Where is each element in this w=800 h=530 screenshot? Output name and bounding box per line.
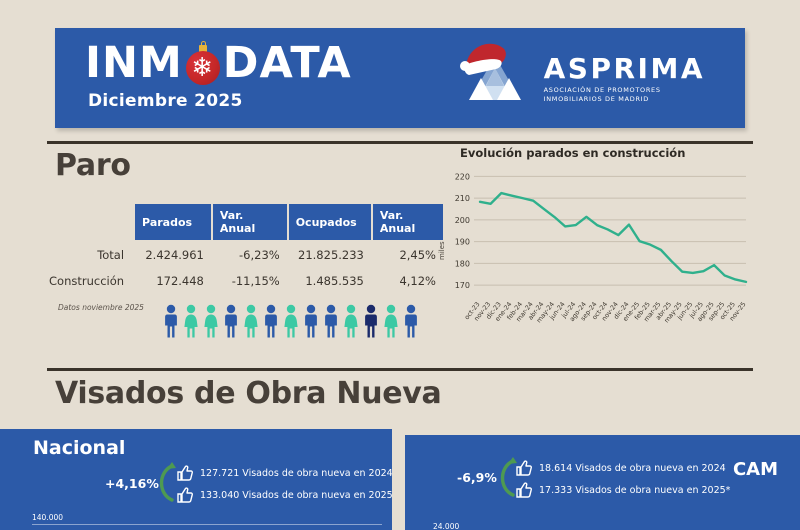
issue-date: Diciembre 2025 bbox=[88, 91, 352, 111]
paro-section-divider bbox=[47, 141, 753, 144]
inmodata-text-left: INM bbox=[85, 42, 183, 85]
christmas-ornament-icon: ❄ bbox=[184, 45, 222, 83]
table-header-var-anual-parados: Var. Anual bbox=[213, 204, 287, 240]
cell-construccion-var-ocupados: 4,12% bbox=[373, 270, 443, 292]
panel-nacional: Nacional +4,16% 127.721 Visados de obra … bbox=[0, 429, 392, 530]
infographic-page: INM ❄ DATA Diciembre 2025 bbox=[0, 0, 800, 530]
person-female-icon bbox=[283, 304, 299, 338]
cell-total-parados: 2.424.961 bbox=[135, 244, 211, 266]
axis-label-nacional: 140.000 bbox=[32, 513, 63, 522]
thumbs-up-icon bbox=[515, 482, 532, 498]
stat-row: 18.614 Visados de obra nueva en 2024 bbox=[515, 460, 730, 476]
person-male-icon bbox=[303, 304, 319, 338]
stat-text: 133.040 Visados de obra nueva en 2025* bbox=[200, 490, 392, 501]
people-pictogram-row bbox=[163, 304, 419, 338]
panel-label-cam: CAM bbox=[733, 459, 778, 480]
table-row: Construcción 172.448 -11,15% 1.485.535 4… bbox=[42, 270, 443, 292]
person-female-icon bbox=[203, 304, 219, 338]
pct-nacional: +4,16% bbox=[105, 476, 159, 491]
person-female-icon bbox=[343, 304, 359, 338]
paro-table: Parados Var. Anual Ocupados Var. Anual T… bbox=[40, 200, 445, 296]
table-header-row: Parados Var. Anual Ocupados Var. Anual bbox=[42, 204, 443, 240]
parados-construccion-chart: Evolución parados en construcción miles … bbox=[436, 146, 756, 351]
person-female-icon bbox=[243, 304, 259, 338]
table-header-blank bbox=[42, 204, 133, 240]
stat-text: 18.614 Visados de obra nueva en 2024 bbox=[539, 463, 726, 474]
asprima-subtitle-line1: ASOCIACIÓN DE PROMOTORES bbox=[544, 86, 705, 95]
growth-arc-icon-cam bbox=[493, 457, 517, 499]
thumbs-up-icon bbox=[515, 460, 532, 476]
chart-line-series bbox=[480, 193, 746, 282]
stat-text: 17.333 Visados de obra nueva en 2025* bbox=[539, 485, 730, 496]
asprima-triangle-santa-hat-icon bbox=[456, 38, 534, 110]
stat-row: 17.333 Visados de obra nueva en 2025* bbox=[515, 482, 730, 498]
cell-total-var-ocupados: 2,45% bbox=[373, 244, 443, 266]
person-male-icon bbox=[163, 304, 179, 338]
chart-svg: 170180190200210220oct-23nov-23dic-23ene-… bbox=[436, 164, 756, 344]
thumbs-up-icon bbox=[176, 465, 193, 481]
chart-y-tick: 180 bbox=[455, 259, 470, 268]
panel-cam: CAM -6,9% 18.614 Visados de obra nueva e… bbox=[405, 435, 800, 530]
person-male-icon bbox=[263, 304, 279, 338]
chart-title: Evolución parados en construcción bbox=[460, 146, 756, 160]
chart-y-tick: 210 bbox=[455, 194, 470, 203]
stat-text: 127.721 Visados de obra nueva en 2024 bbox=[200, 468, 392, 479]
asprima-subtitle-line2: INMOBILIARIOS DE MADRID bbox=[544, 95, 705, 104]
inmodata-text-right: DATA bbox=[223, 42, 352, 85]
asprima-name: ASPRIMA bbox=[544, 55, 705, 83]
chart-plot-area: miles 170180190200210220oct-23nov-23dic-… bbox=[436, 164, 756, 344]
page-title-visados: Visados de Obra Nueva bbox=[55, 376, 442, 411]
stats-group-cam: 18.614 Visados de obra nueva en 2024 17.… bbox=[515, 460, 730, 498]
table-row: Total 2.424.961 -6,23% 21.825.233 2,45% bbox=[42, 244, 443, 266]
asprima-text: ASPRIMA ASOCIACIÓN DE PROMOTORES INMOBIL… bbox=[544, 45, 705, 104]
asprima-subtitle: ASOCIACIÓN DE PROMOTORES INMOBILIARIOS D… bbox=[544, 86, 705, 104]
visados-section-divider bbox=[47, 368, 753, 371]
stat-row: 133.040 Visados de obra nueva en 2025* bbox=[176, 487, 392, 503]
row-label-total: Total bbox=[42, 244, 133, 266]
asprima-logo: ASPRIMA ASOCIACIÓN DE PROMOTORES INMOBIL… bbox=[456, 38, 705, 110]
stats-group-nacional: 127.721 Visados de obra nueva en 2024 13… bbox=[176, 465, 392, 503]
chart-y-tick: 170 bbox=[455, 281, 470, 290]
page-title-paro: Paro bbox=[55, 148, 131, 183]
person-female-icon bbox=[183, 304, 199, 338]
chart-y-tick: 220 bbox=[455, 172, 470, 181]
person-male-icon bbox=[403, 304, 419, 338]
cell-construccion-ocupados: 1.485.535 bbox=[289, 270, 371, 292]
table-header-parados: Parados bbox=[135, 204, 211, 240]
axis-rule-nacional bbox=[32, 524, 382, 525]
inmodata-logo: INM ❄ DATA Diciembre 2025 bbox=[85, 42, 352, 111]
cell-total-ocupados: 21.825.233 bbox=[289, 244, 371, 266]
person-male-dark-icon bbox=[363, 304, 379, 338]
header-banner: INM ❄ DATA Diciembre 2025 bbox=[55, 28, 745, 128]
pct-cam: -6,9% bbox=[457, 470, 497, 485]
person-female-icon bbox=[383, 304, 399, 338]
table-header-var-anual-ocupados: Var. Anual bbox=[373, 204, 443, 240]
row-label-construccion: Construcción bbox=[42, 270, 133, 292]
cell-construccion-parados: 172.448 bbox=[135, 270, 211, 292]
chart-y-tick: 190 bbox=[455, 238, 470, 247]
thumbs-up-icon bbox=[176, 487, 193, 503]
table-header-ocupados: Ocupados bbox=[289, 204, 371, 240]
cell-construccion-var-parados: -11,15% bbox=[213, 270, 287, 292]
datos-note: Datos noviembre 2025 bbox=[58, 303, 144, 312]
chart-y-tick: 200 bbox=[455, 216, 470, 225]
cell-total-var-parados: -6,23% bbox=[213, 244, 287, 266]
stat-row: 127.721 Visados de obra nueva en 2024 bbox=[176, 465, 392, 481]
panel-label-nacional: Nacional bbox=[33, 437, 125, 459]
person-male-icon bbox=[323, 304, 339, 338]
chart-y-axis-label: miles bbox=[438, 241, 446, 260]
person-male-icon bbox=[223, 304, 239, 338]
axis-label-cam: 24.000 bbox=[433, 522, 459, 530]
inmodata-wordmark: INM ❄ DATA bbox=[85, 42, 352, 85]
growth-arc-icon-nacional bbox=[152, 462, 176, 504]
